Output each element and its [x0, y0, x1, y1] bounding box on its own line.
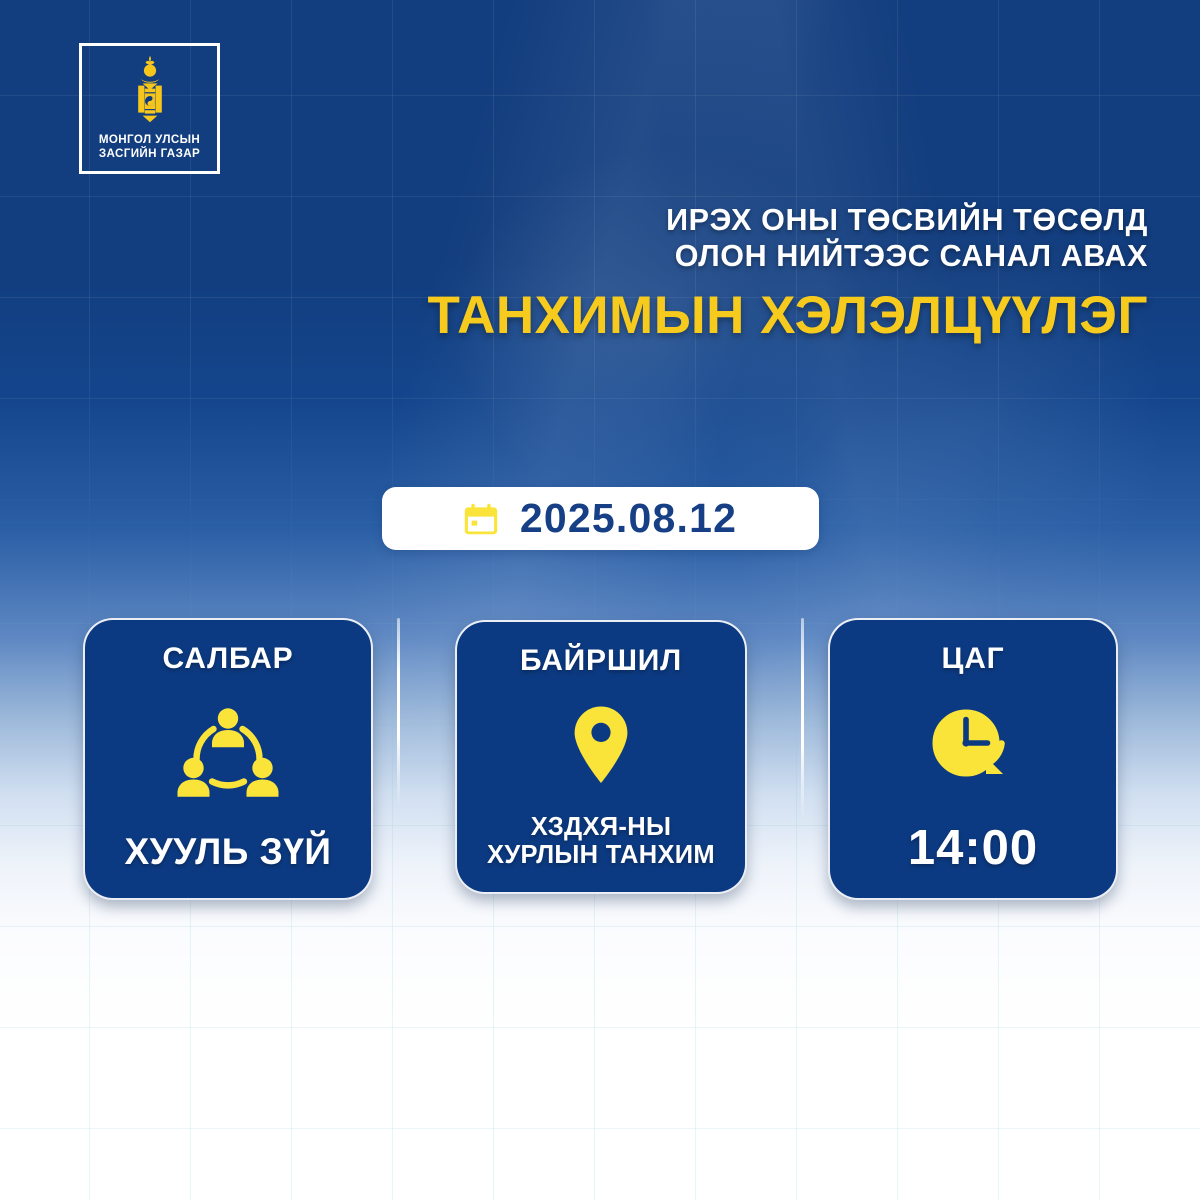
card-bairshil-value-line-1: ХЗДХЯ-НЫ	[487, 813, 715, 842]
logo-line-2: ЗАСГИЙН ГАЗАР	[99, 147, 200, 161]
card-tsag: ЦАГ 14:00	[828, 618, 1118, 900]
location-pin-icon	[570, 704, 632, 786]
card-salbar-icon-wrap	[85, 676, 371, 831]
date-pill: 2025.08.12	[382, 487, 819, 550]
calendar-icon	[464, 502, 498, 536]
card-bairshil-value: ХЗДХЯ-НЫ ХУРЛЫН ТАНХИМ	[487, 813, 715, 870]
soyombo-emblem-icon	[118, 55, 182, 129]
poster-canvas: МОНГОЛ УЛСЫН ЗАСГИЙН ГАЗАР ИРЭХ ОНЫ ТӨСВ…	[0, 0, 1200, 1200]
card-tsag-value: 14:00	[908, 821, 1038, 876]
card-divider-2	[801, 618, 804, 823]
logo-line-1: МОНГОЛ УЛСЫН	[99, 133, 200, 147]
headline-title: ТАНХИМЫН ХЭЛЭЛЦҮҮЛЭГ	[428, 287, 1148, 345]
date-text: 2025.08.12	[520, 498, 737, 539]
card-bairshil: БАЙРШИЛ ХЗДХЯ-НЫ ХУРЛЫН ТАНХИМ	[455, 620, 747, 894]
logo-text-block: МОНГОЛ УЛСЫН ЗАСГИЙН ГАЗАР	[99, 133, 200, 161]
card-divider-1	[397, 618, 400, 808]
card-tsag-heading: ЦАГ	[942, 642, 1005, 676]
headline-block: ИРЭХ ОНЫ ТӨСВИЙН ТӨСӨЛД ОЛОН НИЙТЭЭС САН…	[428, 202, 1148, 345]
headline-kicker-line-2: ОЛОН НИЙТЭЭС САНАЛ АВАХ	[428, 238, 1148, 274]
card-bairshil-heading: БАЙРШИЛ	[520, 644, 682, 678]
card-bairshil-icon-wrap	[457, 678, 745, 813]
card-tsag-icon-wrap	[830, 676, 1116, 821]
card-bairshil-value-line-2: ХУРЛЫН ТАНХИМ	[487, 841, 715, 870]
clock-icon	[924, 702, 1022, 796]
card-salbar-value: ХУУЛЬ ЗҮЙ	[125, 831, 332, 872]
people-network-icon	[176, 705, 280, 801]
headline-kicker-line-1: ИРЭХ ОНЫ ТӨСВИЙН ТӨСӨЛД	[428, 202, 1148, 238]
card-salbar-heading: САЛБАР	[163, 642, 294, 676]
government-logo: МОНГОЛ УЛСЫН ЗАСГИЙН ГАЗАР	[79, 43, 220, 174]
card-salbar: САЛБАР	[83, 618, 373, 900]
